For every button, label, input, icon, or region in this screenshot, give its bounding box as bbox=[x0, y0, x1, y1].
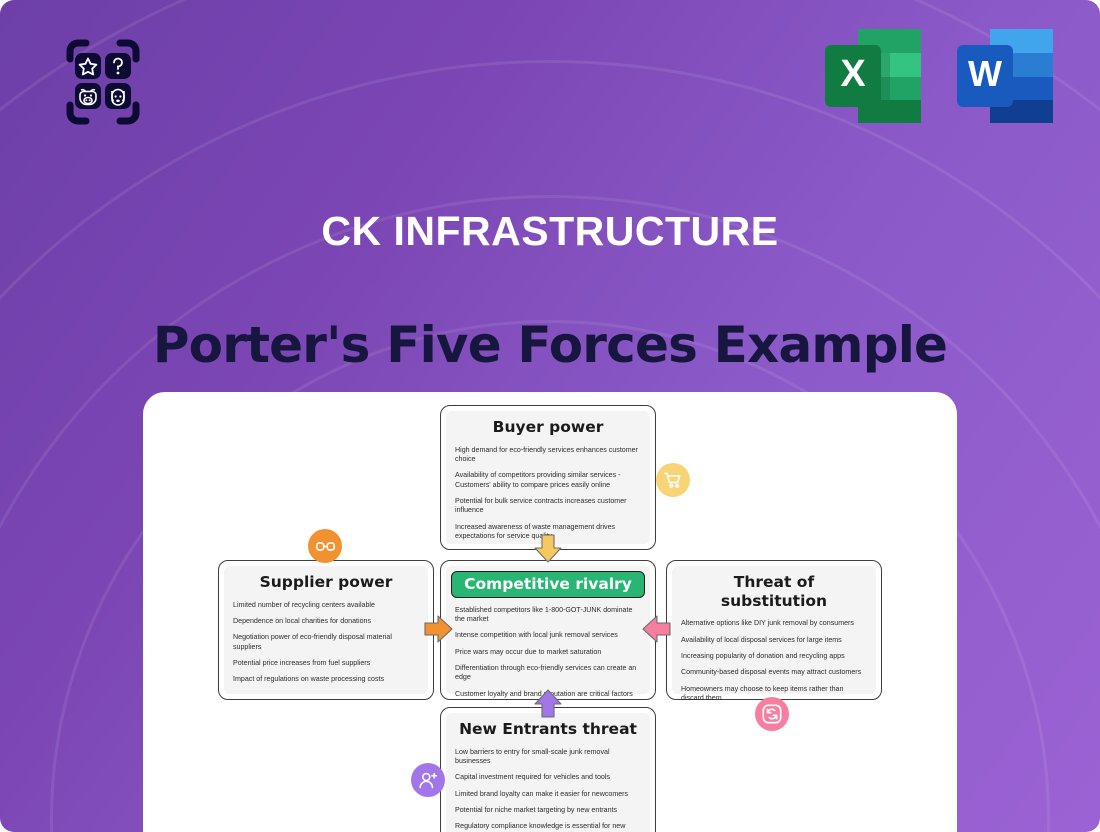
list-item: High demand for eco-friendly services en… bbox=[455, 446, 641, 465]
force-card-title: Buyer power bbox=[455, 418, 641, 437]
svg-text:X: X bbox=[840, 53, 866, 95]
office-app-icons: X W bbox=[823, 27, 1055, 125]
force-card-threat-of-substitution[interactable]: Threat of substitution Alternative optio… bbox=[666, 560, 882, 700]
force-card-items: Alternative options like DIY junk remova… bbox=[681, 619, 867, 703]
arrow-right-orange-icon bbox=[424, 613, 454, 645]
list-item: Potential price increases from fuel supp… bbox=[233, 659, 419, 668]
list-item: Established competitors like 1-800-GOT-J… bbox=[455, 606, 641, 625]
star-icon bbox=[75, 53, 101, 79]
add-user-icon[interactable] bbox=[411, 763, 445, 797]
force-card-title: Supplier power bbox=[233, 573, 419, 592]
list-item: Price wars may occur due to market satur… bbox=[455, 648, 641, 657]
force-card-items: Limited number of recycling centers avai… bbox=[233, 601, 419, 685]
force-card-supplier-power[interactable]: Supplier power Limited number of recycli… bbox=[218, 560, 434, 700]
force-card-new-entrants-threat[interactable]: New Entrants threat Low barriers to entr… bbox=[440, 707, 656, 832]
page-title: Porter's Five Forces Example bbox=[0, 316, 1100, 374]
list-item: Intense competition with local junk remo… bbox=[455, 631, 641, 640]
force-card-items: Established competitors like 1-800-GOT-J… bbox=[455, 606, 641, 700]
word-icon[interactable]: W bbox=[955, 27, 1055, 125]
list-item: Alternative options like DIY junk remova… bbox=[681, 619, 867, 628]
svg-text:W: W bbox=[968, 53, 1002, 94]
arrow-up-purple-icon bbox=[532, 688, 564, 718]
list-item: Impact of regulations on waste processin… bbox=[233, 675, 419, 684]
list-item: Limited brand loyalty can make it easier… bbox=[455, 790, 641, 799]
force-card-items: High demand for eco-friendly services en… bbox=[455, 446, 641, 542]
list-item: Limited number of recycling centers avai… bbox=[233, 601, 419, 610]
force-card-title: New Entrants threat bbox=[455, 720, 641, 739]
force-card-buyer-power[interactable]: Buyer power High demand for eco-friendly… bbox=[440, 405, 656, 550]
force-card-competitive-rivalry[interactable]: Competitive rivalry Established competit… bbox=[440, 560, 656, 700]
excel-icon[interactable]: X bbox=[823, 27, 923, 125]
force-card-items: Low barriers to entry for small-scale ju… bbox=[455, 748, 641, 832]
slide-canvas: X W CK INFRASTRUCTURE Porter's Five Forc… bbox=[0, 0, 1100, 832]
list-item: Differentiation through eco-friendly ser… bbox=[455, 664, 641, 683]
page-eyebrow-title: CK INFRASTRUCTURE bbox=[0, 208, 1100, 255]
link-icon[interactable] bbox=[308, 529, 342, 563]
quiz-qr-logo[interactable] bbox=[48, 27, 158, 137]
list-item: Negotiation power of eco-friendly dispos… bbox=[233, 633, 419, 652]
shopping-cart-icon[interactable] bbox=[656, 463, 690, 497]
list-item: Increasing popularity of donation and re… bbox=[681, 652, 867, 661]
list-item: Community-based disposal events may attr… bbox=[681, 668, 867, 677]
list-item: Dependence on local charities for donati… bbox=[233, 617, 419, 626]
force-card-title: Competitive rivalry bbox=[451, 571, 645, 598]
arrow-down-yellow-icon bbox=[532, 534, 564, 564]
refresh-icon[interactable] bbox=[755, 697, 789, 731]
force-card-title: Threat of substitution bbox=[681, 573, 867, 610]
list-item: Availability of competitors providing si… bbox=[455, 471, 641, 490]
list-item: Regulatory compliance knowledge is essen… bbox=[455, 822, 641, 832]
list-item: Availability of local disposal services … bbox=[681, 636, 867, 645]
list-item: Potential for niche market targeting by … bbox=[455, 806, 641, 815]
list-item: Potential for bulk service contracts inc… bbox=[455, 497, 641, 516]
list-item: Low barriers to entry for small-scale ju… bbox=[455, 748, 641, 767]
list-item: Capital investment required for vehicles… bbox=[455, 773, 641, 782]
arrow-left-pink-icon bbox=[641, 613, 671, 645]
